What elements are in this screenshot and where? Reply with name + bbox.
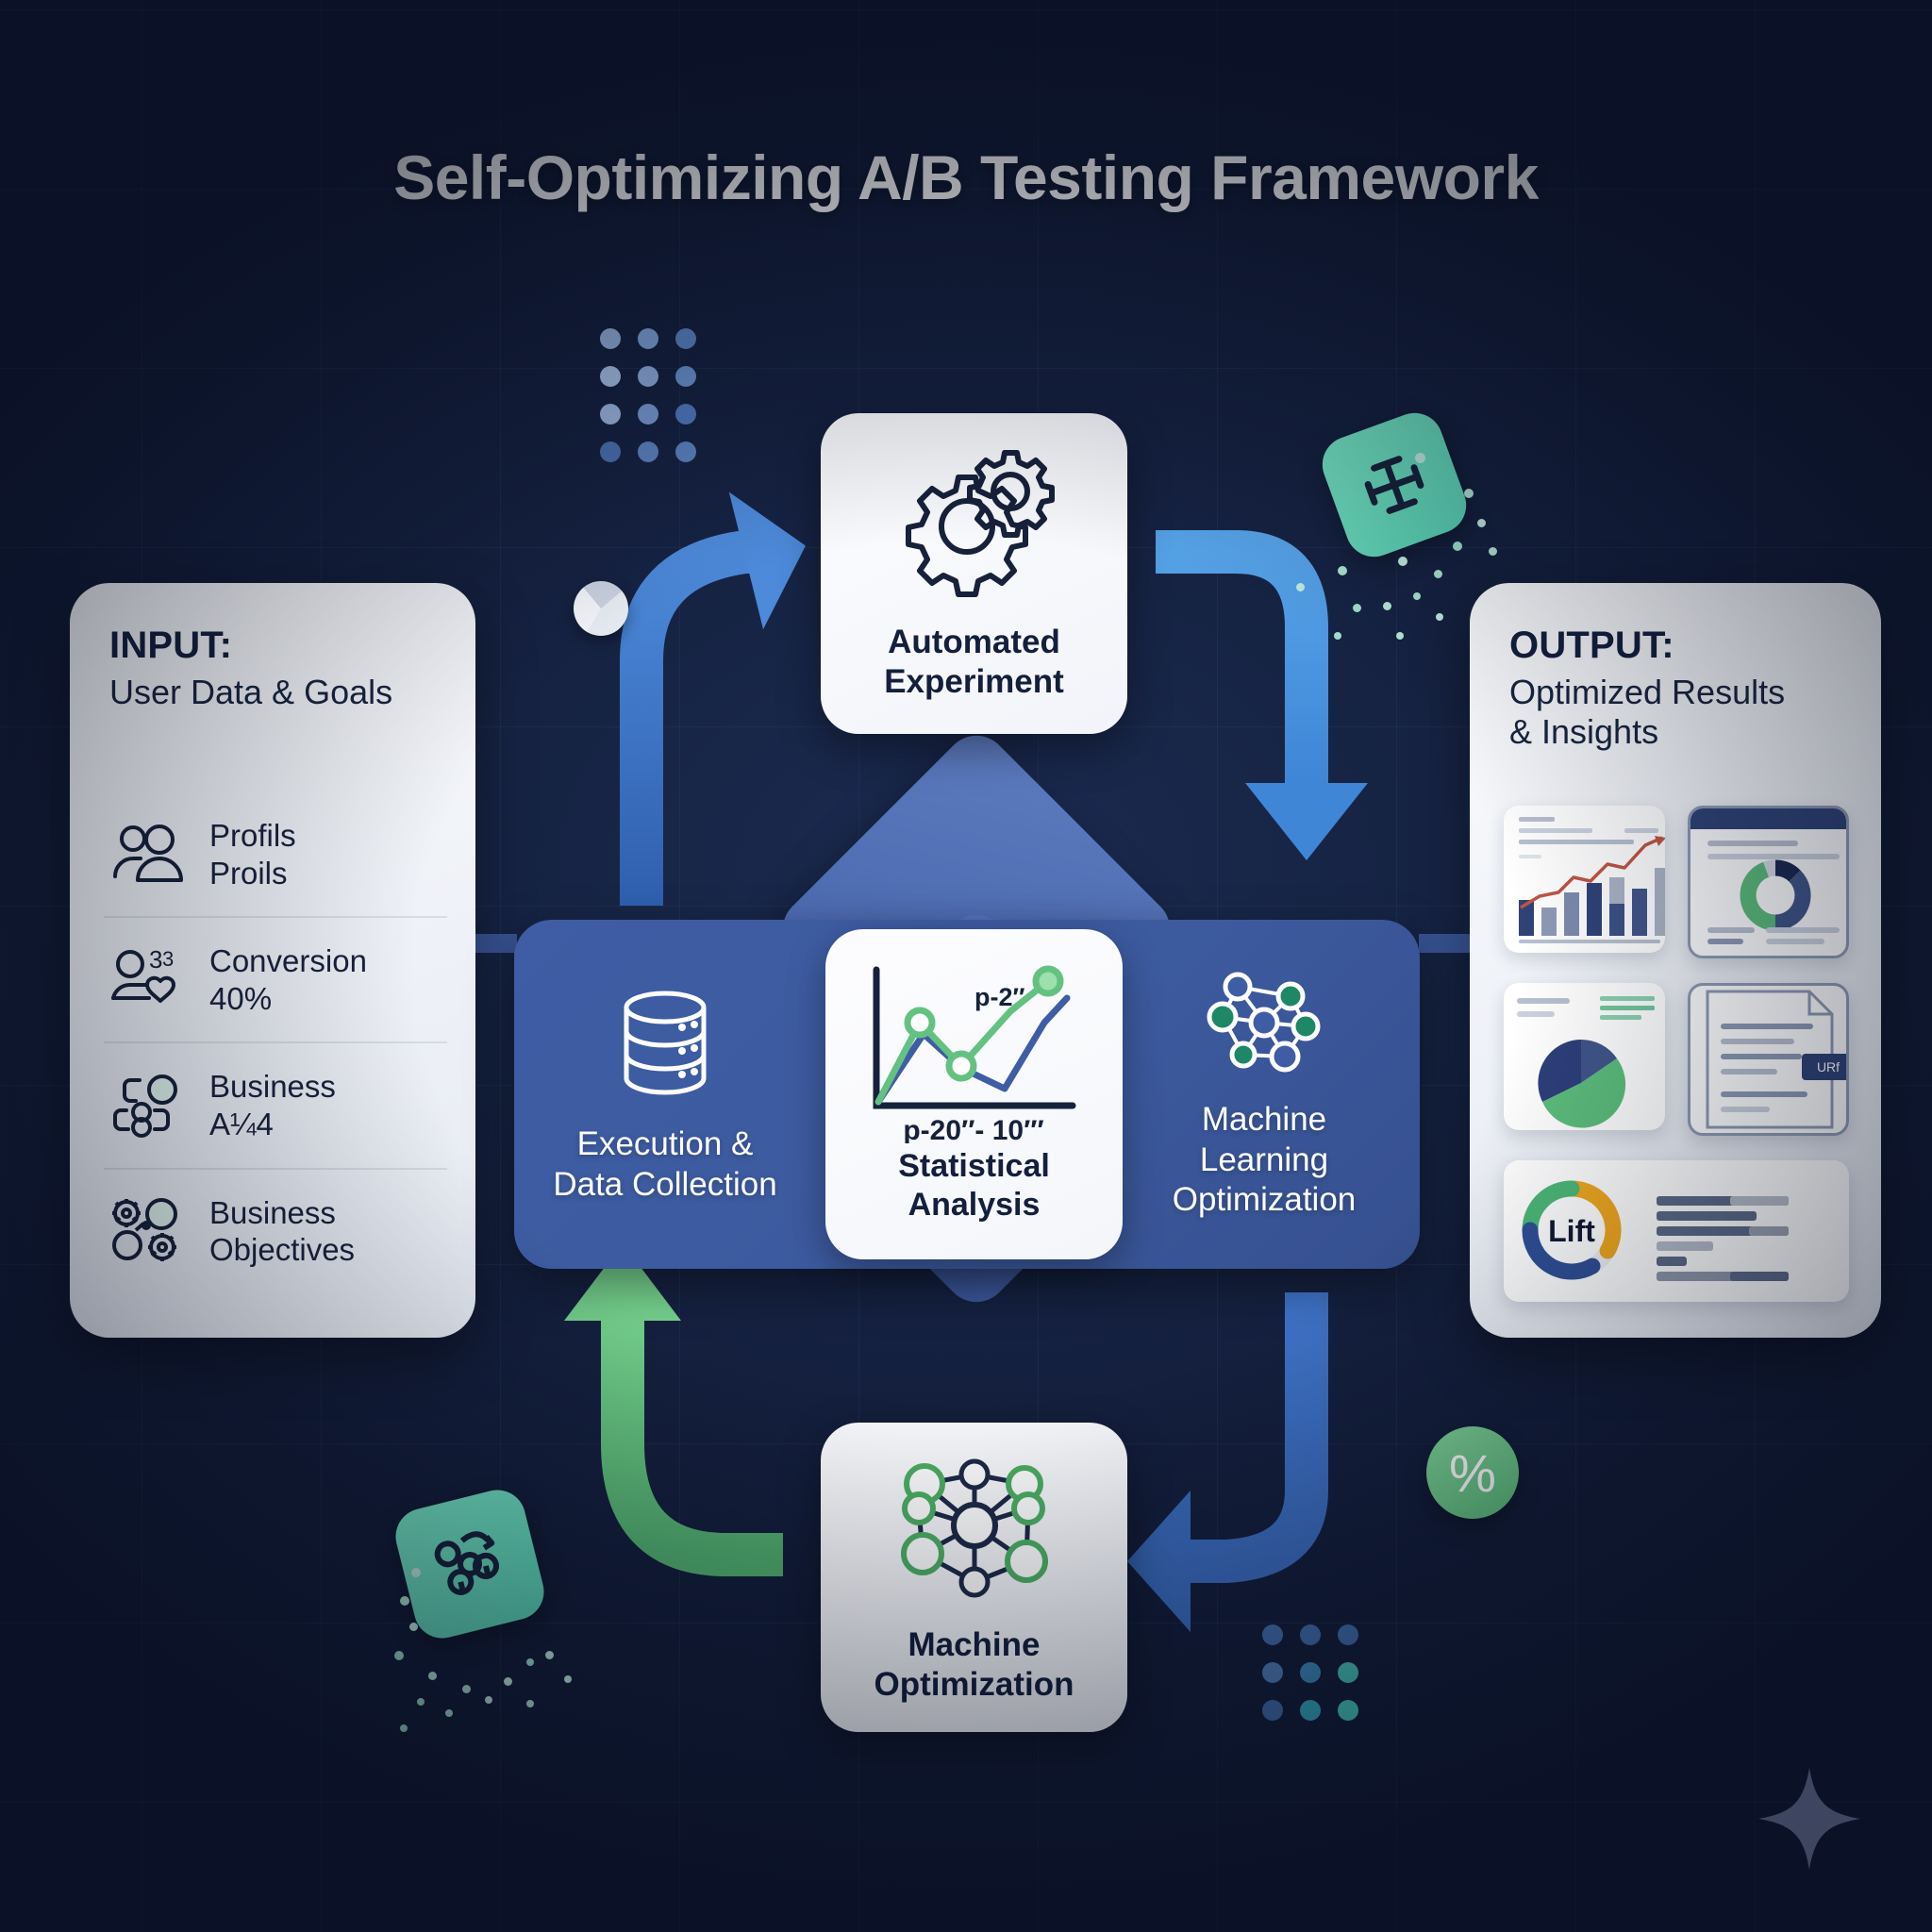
diagram-canvas: Self-Optimizing A/B Testing Framework IN…	[0, 0, 1932, 1932]
vignette-overlay	[0, 0, 1932, 1932]
